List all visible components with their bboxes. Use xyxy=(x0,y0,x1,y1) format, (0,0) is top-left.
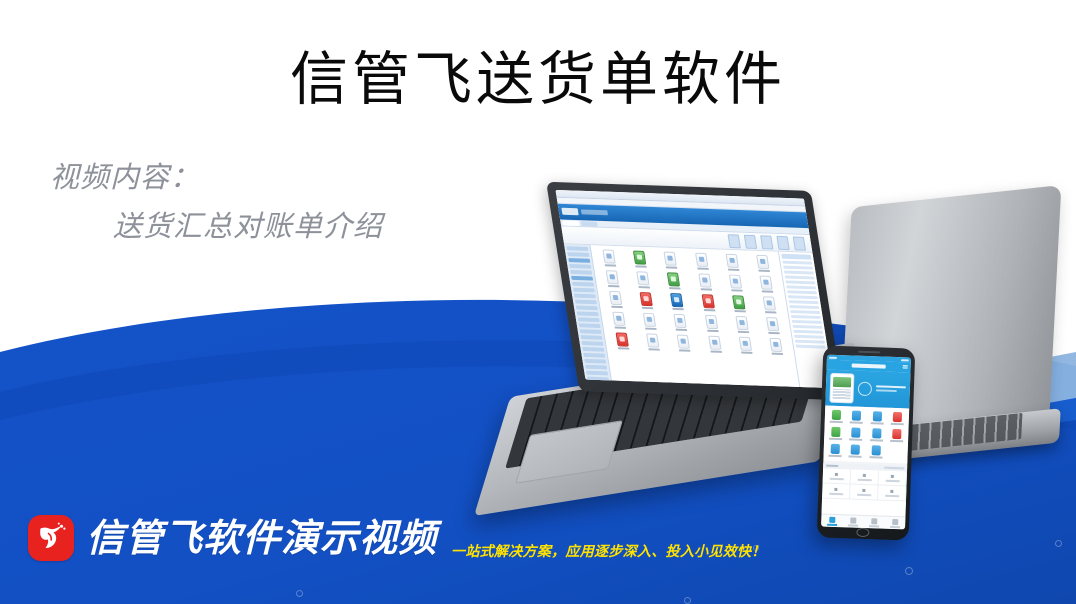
app-icon-label xyxy=(771,353,783,355)
app-icon[interactable] xyxy=(754,296,784,314)
tab-label xyxy=(848,524,858,526)
sidebar-item[interactable] xyxy=(573,288,595,293)
feature-label xyxy=(830,421,843,423)
app-icon[interactable] xyxy=(699,335,729,353)
app-icon[interactable] xyxy=(628,271,658,289)
app-icon-glyph xyxy=(609,291,622,305)
feature-icon xyxy=(851,444,860,454)
app-icon-glyph xyxy=(769,338,782,352)
app-icon-glyph xyxy=(766,317,779,331)
phone-feature[interactable] xyxy=(867,411,887,425)
stat-cell xyxy=(879,470,908,486)
feature-label xyxy=(870,422,883,424)
app-icon-label xyxy=(611,306,623,308)
app-icon-label xyxy=(731,289,743,291)
phone-feature[interactable] xyxy=(887,412,907,426)
sidebar-item[interactable] xyxy=(583,353,605,358)
feature-label xyxy=(870,439,883,441)
app-icon[interactable] xyxy=(727,316,757,334)
app-icon-label xyxy=(762,290,774,292)
app-icon-label xyxy=(734,310,746,312)
right-panel-row[interactable] xyxy=(793,330,823,334)
app-icon-label xyxy=(608,285,620,287)
sidebar-item[interactable] xyxy=(576,305,598,310)
right-panel-row[interactable] xyxy=(796,345,826,349)
app-icon[interactable] xyxy=(604,311,634,329)
app-icon-glyph xyxy=(759,276,772,290)
right-panel-row[interactable] xyxy=(785,275,815,279)
app-icon[interactable] xyxy=(631,292,661,310)
sidebar-item[interactable] xyxy=(588,383,610,388)
app-icon-label xyxy=(703,309,715,311)
phone-stats-section xyxy=(822,463,908,517)
app-icon[interactable] xyxy=(635,312,665,330)
phone-feature[interactable] xyxy=(846,427,866,441)
app-icon-label xyxy=(615,327,627,329)
toolbar-icon[interactable] xyxy=(727,234,740,248)
decor-bubble xyxy=(1055,540,1062,547)
stat-cell xyxy=(850,484,879,500)
app-icon-glyph xyxy=(729,274,742,288)
footer-brand-bar: 信管飞软件演示视频 一站式解决方案，应用逐步深入、投入小见效快！ xyxy=(28,508,766,568)
decor-bubble xyxy=(684,597,691,604)
right-panel-row[interactable] xyxy=(782,261,812,265)
toolbar-icon[interactable] xyxy=(793,236,806,250)
app-icon-glyph xyxy=(756,255,769,269)
right-panel-row[interactable] xyxy=(791,315,821,319)
slide-canvas: 信管飞送货单软件 视频内容： 送货汇总对账单介绍 xyxy=(0,0,1076,604)
brand-tagline: 一站式解决方案，应用逐步深入、投入小见效快！ xyxy=(451,543,766,561)
app-icon-glyph xyxy=(677,335,690,349)
home-icon xyxy=(829,516,835,522)
status-left-icons xyxy=(829,356,837,358)
right-panel-row[interactable] xyxy=(787,290,817,294)
app-icon-label xyxy=(700,288,712,290)
app-icon-label xyxy=(768,332,780,334)
phone-app-title xyxy=(852,363,886,368)
app-icon-label xyxy=(639,286,651,288)
app-icon[interactable] xyxy=(669,334,699,352)
sidebar-item[interactable] xyxy=(579,323,601,328)
sidebar-item[interactable] xyxy=(586,371,608,376)
app-icon-glyph xyxy=(646,333,659,347)
app-icon-glyph xyxy=(670,293,683,307)
tab-home[interactable] xyxy=(821,514,842,527)
app-icon-label xyxy=(635,265,647,267)
app-body xyxy=(564,244,834,388)
feature-label xyxy=(891,423,904,425)
sidebar-item[interactable] xyxy=(585,365,607,370)
app-icon[interactable] xyxy=(758,317,788,335)
app-icon-label xyxy=(669,287,681,289)
brand-text: 信管飞软件演示视频 xyxy=(86,516,437,560)
app-icon[interactable] xyxy=(638,333,668,351)
phone-screen xyxy=(821,355,911,530)
sidebar-item[interactable] xyxy=(574,294,596,299)
stat-cell xyxy=(878,485,907,501)
app-icon-label xyxy=(707,330,719,332)
sidebar-item[interactable] xyxy=(575,300,597,305)
feature-icon xyxy=(852,427,861,437)
sidebar-item[interactable] xyxy=(587,377,609,382)
video-content-value: 送货汇总对账单介绍 xyxy=(113,209,383,243)
app-icon[interactable] xyxy=(693,294,723,312)
laptop-front-screen xyxy=(555,190,833,388)
right-panel-row[interactable] xyxy=(795,340,825,344)
app-icon-glyph xyxy=(643,313,656,327)
feature-label xyxy=(849,455,862,457)
sidebar-item[interactable] xyxy=(584,359,606,364)
orders-icon xyxy=(850,517,856,523)
phone-feature[interactable] xyxy=(826,427,846,441)
toolbar-icon[interactable] xyxy=(744,234,757,248)
app-icon-glyph xyxy=(616,332,629,346)
feature-icon xyxy=(852,411,861,421)
sidebar-item[interactable] xyxy=(577,311,599,316)
app-icon[interactable] xyxy=(751,275,781,293)
app-icon-label xyxy=(710,350,722,352)
app-icon-label xyxy=(676,329,688,331)
app-icon[interactable] xyxy=(625,250,655,268)
app-tab[interactable] xyxy=(581,221,598,227)
right-panel-row[interactable] xyxy=(783,266,813,270)
app-icon[interactable] xyxy=(717,253,747,271)
app-icon-glyph xyxy=(732,295,745,309)
stats-filter-tabs[interactable] xyxy=(884,467,904,470)
feature-icon xyxy=(831,427,840,437)
sidebar-item[interactable] xyxy=(569,264,591,269)
right-panel-row[interactable] xyxy=(786,285,816,289)
app-icon[interactable] xyxy=(724,295,754,313)
app-icon-label xyxy=(679,349,691,351)
app-icon-glyph xyxy=(725,254,738,268)
right-panel-row[interactable] xyxy=(792,320,822,324)
app-icon[interactable] xyxy=(690,273,720,291)
app-icon-label xyxy=(673,308,685,310)
phone-feature-grid xyxy=(823,406,909,464)
app-icon-glyph xyxy=(674,314,687,328)
tab-label xyxy=(890,525,900,527)
app-icon-label xyxy=(618,347,630,349)
app-icon[interactable] xyxy=(598,270,628,288)
app-icon[interactable] xyxy=(748,255,778,273)
video-content-label: 视频内容： xyxy=(50,160,200,194)
app-icon-label xyxy=(645,328,657,330)
sidebar-item[interactable] xyxy=(570,270,592,275)
sidebar-item[interactable] xyxy=(566,246,588,251)
app-icon[interactable] xyxy=(720,274,750,292)
slide-title: 信管飞送货单软件 xyxy=(0,44,1076,114)
app-icon-label xyxy=(765,311,777,313)
app-icon-glyph xyxy=(698,273,711,287)
right-panel-row[interactable] xyxy=(785,280,815,284)
app-icon-glyph xyxy=(602,249,615,263)
app-icon-glyph xyxy=(612,312,625,326)
app-tab[interactable] xyxy=(562,221,579,227)
status-right-icons xyxy=(901,359,909,361)
tab-reports[interactable] xyxy=(863,516,884,529)
laptop-front-lid xyxy=(546,182,844,401)
phone-feature[interactable] xyxy=(827,410,847,424)
app-logo-icon xyxy=(561,208,578,215)
app-icon-label xyxy=(642,307,654,309)
app-icon[interactable] xyxy=(594,249,624,267)
app-icon-glyph xyxy=(606,270,619,284)
feature-icon xyxy=(893,412,902,422)
sidebar-item[interactable] xyxy=(572,282,594,287)
phone-feature[interactable] xyxy=(866,445,886,459)
app-main-panel xyxy=(591,245,800,388)
app-icon[interactable] xyxy=(730,336,760,354)
phone-feature[interactable] xyxy=(847,410,867,424)
phone-feature-empty xyxy=(886,446,906,460)
stat-cell xyxy=(823,469,852,485)
app-icon-glyph xyxy=(664,252,677,266)
app-icon-label xyxy=(605,264,617,266)
hero-device-illustration xyxy=(829,373,854,404)
sidebar-item[interactable] xyxy=(581,341,603,346)
sidebar-item[interactable] xyxy=(571,276,593,281)
sidebar-item[interactable] xyxy=(582,347,604,352)
feature-label xyxy=(829,438,842,440)
app-icon-grid xyxy=(594,249,791,355)
app-icon-glyph xyxy=(763,296,776,310)
right-panel-row[interactable] xyxy=(789,300,819,304)
right-panel-row[interactable] xyxy=(784,271,814,275)
app-icon-glyph xyxy=(633,251,646,265)
app-icon[interactable] xyxy=(686,252,716,270)
feature-label xyxy=(869,456,882,458)
app-icon-glyph xyxy=(738,337,751,351)
app-header-text xyxy=(581,209,608,215)
sidebar-item[interactable] xyxy=(578,317,600,322)
app-icon-glyph xyxy=(735,316,748,330)
app-icon-label xyxy=(728,269,740,271)
app-icon[interactable] xyxy=(696,315,726,333)
app-icon[interactable] xyxy=(761,338,791,356)
app-icon[interactable] xyxy=(662,293,692,311)
person-icon xyxy=(892,518,898,524)
phone-feature[interactable] xyxy=(867,428,887,442)
right-panel-row[interactable] xyxy=(792,325,822,329)
right-panel-row[interactable] xyxy=(794,335,824,339)
right-panel-row[interactable] xyxy=(789,305,819,309)
app-icon-glyph xyxy=(667,272,680,286)
app-icon[interactable] xyxy=(659,272,689,290)
feature-icon xyxy=(831,444,840,454)
sidebar-item[interactable] xyxy=(580,329,602,334)
right-panel-header xyxy=(781,254,811,260)
device-cluster xyxy=(470,185,1076,530)
toolbar-icon[interactable] xyxy=(760,235,773,249)
app-icon-label xyxy=(737,331,749,333)
app-icon-glyph xyxy=(636,271,649,285)
smartphone xyxy=(817,345,916,540)
app-icon-glyph xyxy=(695,253,708,267)
xinguanfei-bird-logo-icon xyxy=(28,515,74,561)
tab-orders[interactable] xyxy=(842,515,863,528)
app-icon[interactable] xyxy=(665,314,695,332)
phone-feature[interactable] xyxy=(826,444,846,458)
feature-icon xyxy=(872,428,881,438)
stats-grid xyxy=(822,469,907,502)
feature-icon xyxy=(871,445,880,455)
right-panel-row[interactable] xyxy=(788,295,818,299)
phone-tab-bar xyxy=(821,513,905,529)
phone-hero-card xyxy=(825,370,910,409)
sidebar-item[interactable] xyxy=(567,252,589,257)
stats-title xyxy=(826,465,838,467)
tab-label xyxy=(869,525,879,527)
tab-profile[interactable] xyxy=(884,517,905,530)
feature-icon xyxy=(892,429,901,439)
app-icon-label xyxy=(741,352,753,354)
feature-label xyxy=(849,438,862,440)
app-icon[interactable] xyxy=(656,251,686,269)
hero-text xyxy=(876,385,906,394)
app-icon[interactable] xyxy=(601,291,631,309)
stat-cell xyxy=(851,469,880,485)
feature-icon xyxy=(872,411,881,421)
decor-bubble xyxy=(905,567,913,575)
chart-icon xyxy=(871,518,877,524)
decor-bubble xyxy=(296,590,303,597)
desktop-app-window xyxy=(555,190,833,388)
app-icon-glyph xyxy=(704,315,717,329)
hamburger-menu-icon[interactable] xyxy=(903,365,908,369)
right-panel-row[interactable] xyxy=(790,310,820,314)
app-icon-label xyxy=(758,270,770,272)
app-icon-label xyxy=(649,348,661,350)
stat-cell xyxy=(822,484,851,500)
app-icon-glyph xyxy=(701,294,714,308)
sidebar-item[interactable] xyxy=(568,258,590,263)
feature-label xyxy=(850,421,863,423)
phone-feature[interactable] xyxy=(846,444,866,458)
feature-label xyxy=(890,440,903,442)
app-icon-label xyxy=(697,267,709,269)
app-icon-label xyxy=(666,266,678,268)
phone-feature[interactable] xyxy=(887,429,907,443)
feature-label xyxy=(829,455,842,457)
app-icon-glyph xyxy=(640,292,653,306)
toolbar-icon[interactable] xyxy=(776,235,789,249)
tab-label xyxy=(827,523,837,525)
feature-icon xyxy=(832,410,841,420)
sidebar-item[interactable] xyxy=(580,335,602,340)
hero-sync-icon xyxy=(858,382,872,396)
app-icon-glyph xyxy=(708,336,721,350)
app-icon[interactable] xyxy=(607,332,637,350)
